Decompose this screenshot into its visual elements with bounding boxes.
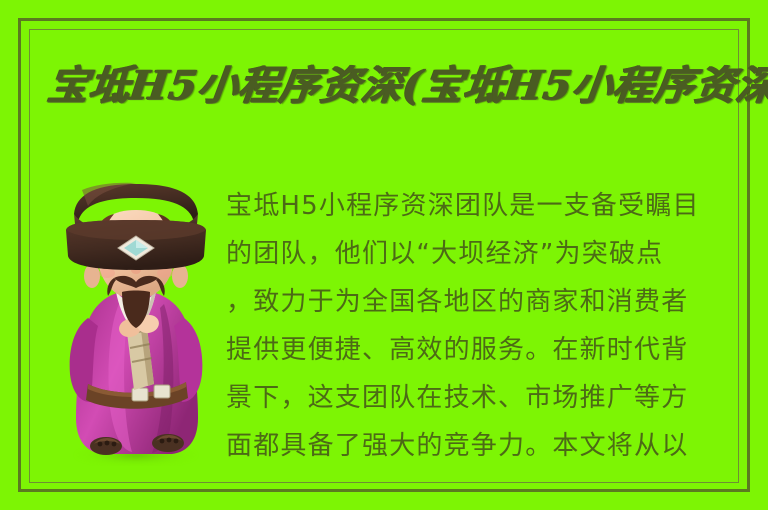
mascot-shoe-left xyxy=(90,437,122,455)
article-body: 宝坻H5小程序资深团队是一支备受瞩目 的团队，他们以“大坝经济”为突破点 ，致力… xyxy=(226,182,722,470)
mascot-cheek-left xyxy=(99,268,115,278)
mascot-hat xyxy=(66,183,206,270)
article-line: 景下，这支团队在技术、市场推广等方 xyxy=(226,374,722,422)
article-line: 的团队，他们以“大坝经济”为突破点 xyxy=(226,230,722,278)
mascot-cheek-right xyxy=(157,268,173,278)
chinese-scholar-mascot-illustration xyxy=(52,178,217,466)
article-line: 宝坻H5小程序资深团队是一支备受瞩目 xyxy=(226,182,722,230)
article-line: ，致力于为全国各地区的商家和消费者 xyxy=(226,278,722,326)
mascot-shoe-right xyxy=(152,434,184,452)
article-line: 提供更便捷、高效的服务。在新时代背 xyxy=(226,326,722,374)
page-title: 宝坻H5小程序资深(宝坻H5小程序资深) xyxy=(44,58,723,116)
poster-canvas: 宝坻H5小程序资深(宝坻H5小程序资深) 宝坻H5小程序资深团队是一支备受瞩目 … xyxy=(0,0,768,510)
article-line: 面都具备了强大的竞争力。本文将从以 xyxy=(226,422,722,470)
